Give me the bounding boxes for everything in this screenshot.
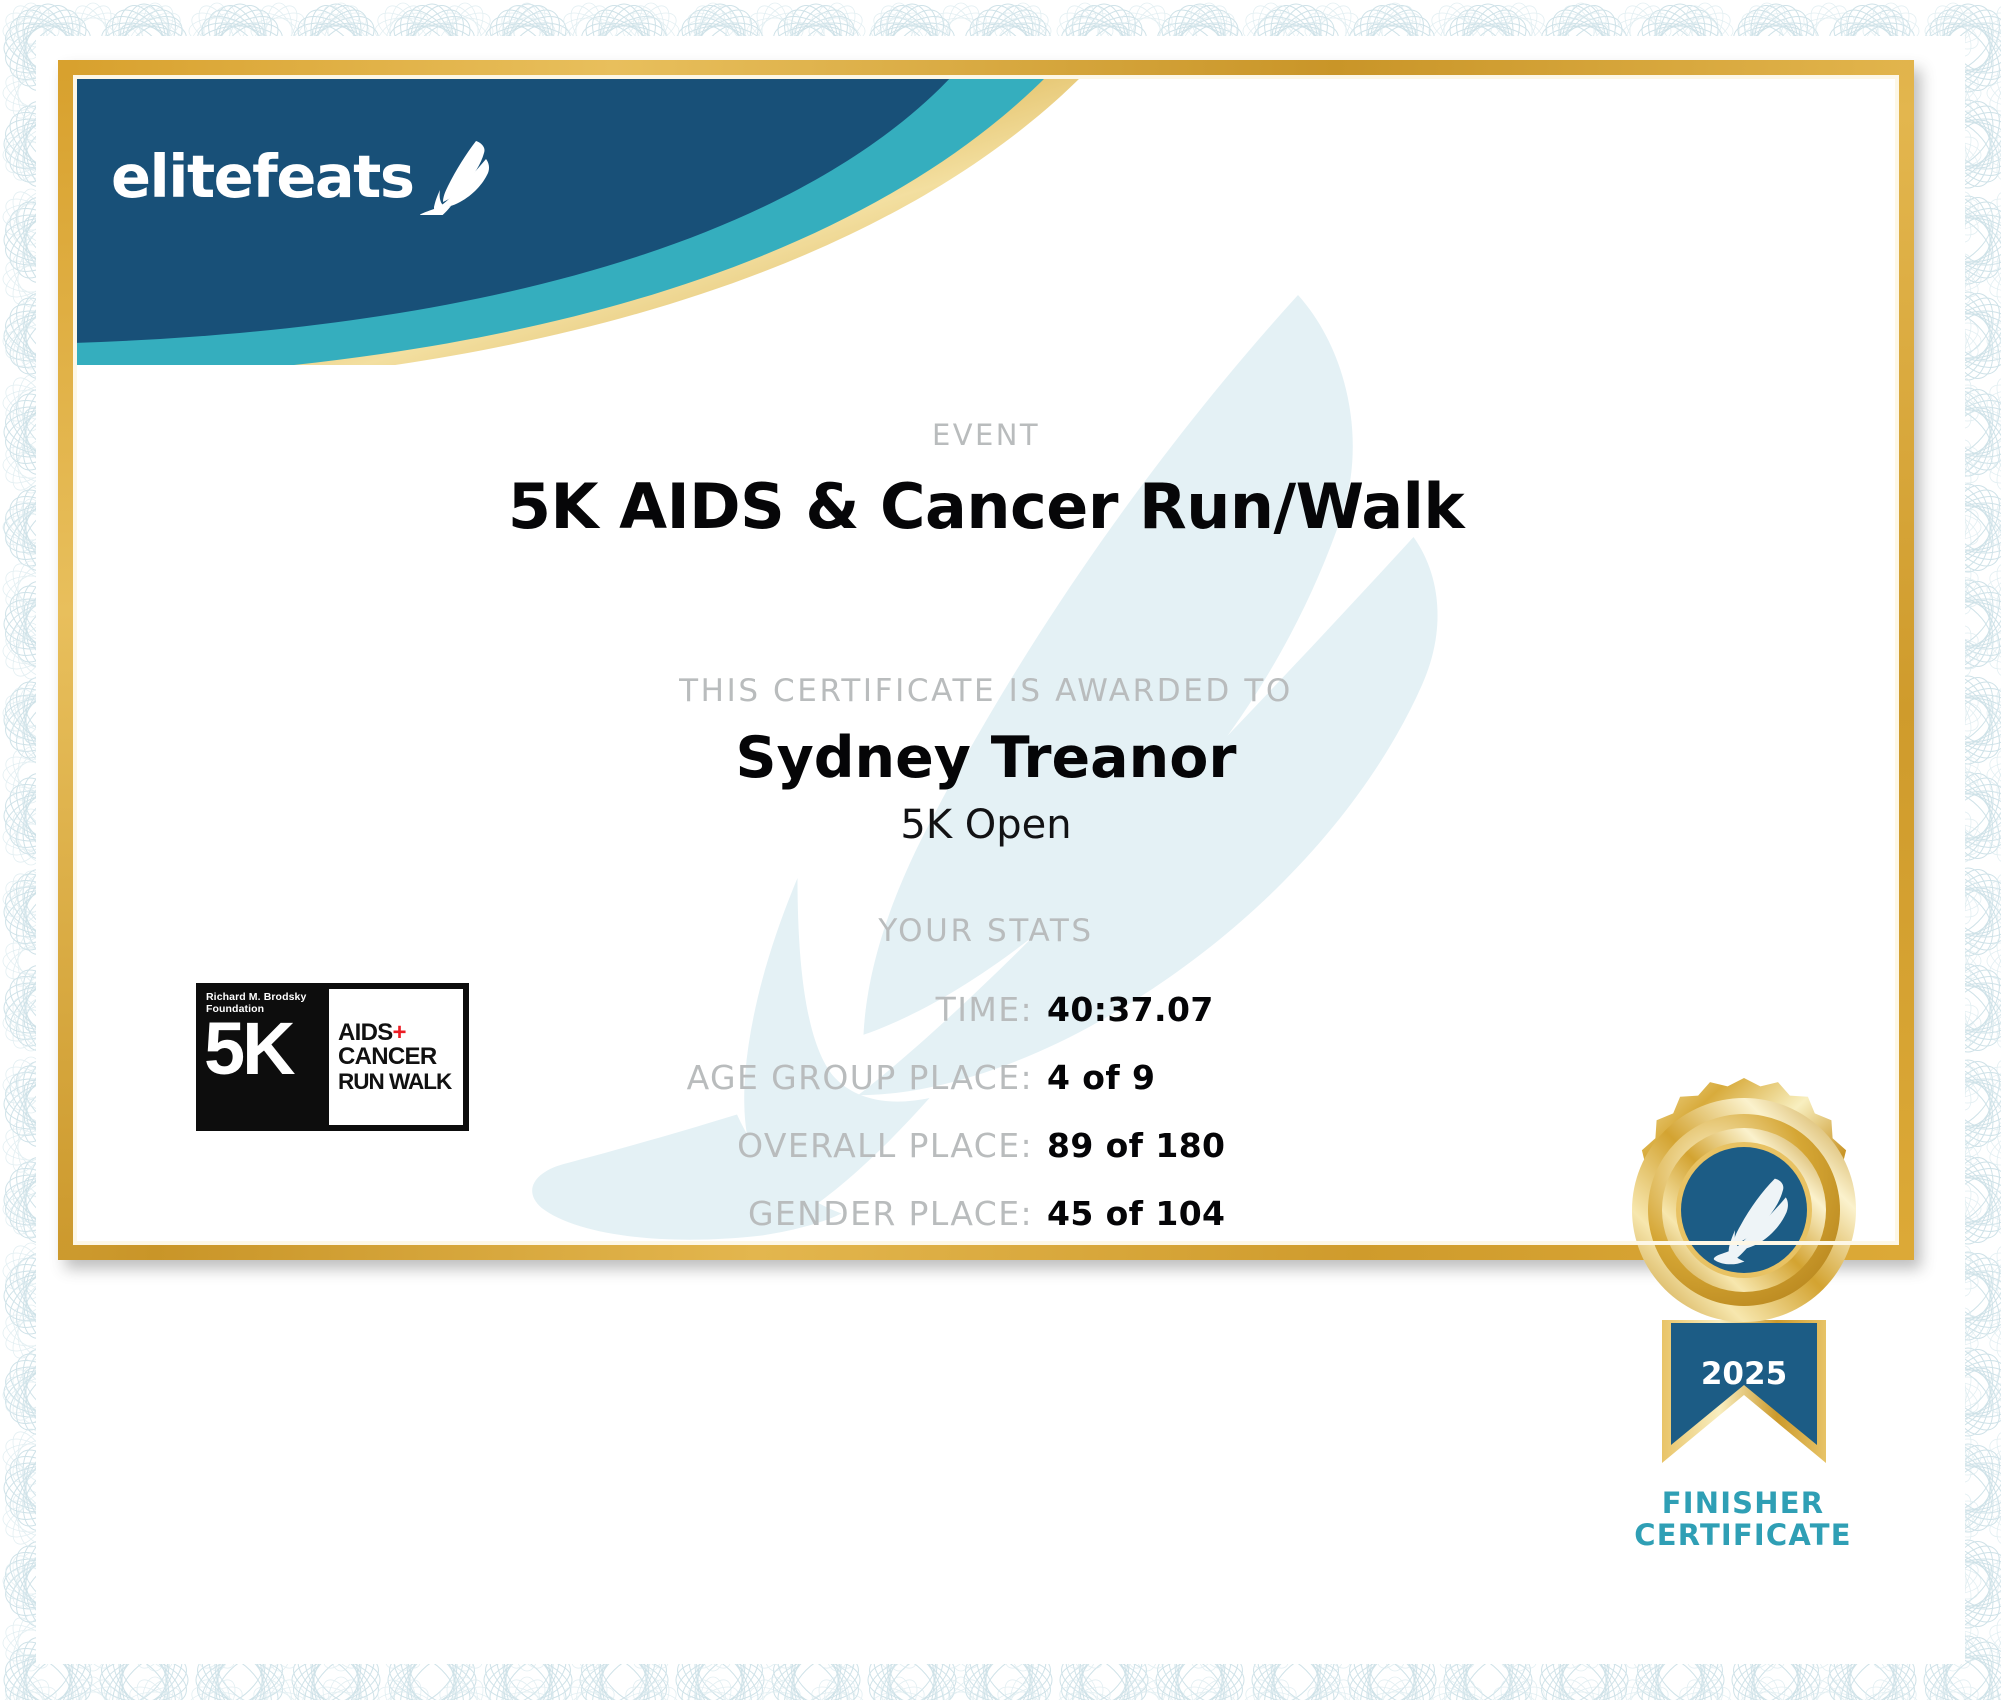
finisher-medal-badge: 2025 [1589,1075,1899,1495]
awarded-to-label: THIS CERTIFICATE IS AWARDED TO [73,673,1899,709]
stat-value-overall-place: 89 of 180 [1047,1126,1303,1165]
stat-value-age-group-place: 4 of 9 [1047,1058,1303,1097]
finisher-caption-line2: CERTIFICATE [1573,1519,1913,1551]
race-logo-line-cancer: CANCER [338,1045,463,1070]
race-sponsor-logo: Richard M. Brodsky Foundation 5K AIDS+ C… [196,983,469,1131]
event-label: EVENT [73,418,1899,452]
brand-wordmark: elitefeats [111,147,414,206]
stat-row-time: TIME: 40:37.07 [373,990,1303,1038]
stat-value-time: 40:37.07 [1047,990,1303,1029]
race-logo-line-aids: AIDS+ [338,1021,463,1046]
stat-row-age-group-place: AGE GROUP PLACE: 4 of 9 [373,1058,1303,1106]
race-logo-aids-text: AIDS [338,1019,393,1046]
stat-row-overall-place: OVERALL PLACE: 89 of 180 [373,1126,1303,1174]
red-plus-icon: + [393,1019,406,1046]
your-stats-heading: YOUR STATS [73,913,1899,949]
stats-table: TIME: 40:37.07 AGE GROUP PLACE: 4 of 9 O… [373,990,1303,1262]
medal-disc [1632,1078,1856,1322]
recipient-division: 5K Open [73,802,1899,848]
stat-label-age-group-place: AGE GROUP PLACE: [373,1058,1047,1097]
brand-logo: elitefeats [111,137,492,215]
winged-foot-icon [420,137,492,215]
race-logo-left-panel: Richard M. Brodsky Foundation 5K [202,989,320,1125]
certificate-page: elitefeats EVENT 5K AIDS & Cancer Run/Wa… [0,0,2001,1700]
finisher-certificate-caption: FINISHER CERTIFICATE [1573,1487,1913,1552]
race-logo-line-run-walk: RUN WALK [338,1070,463,1093]
certificate-content: EVENT 5K AIDS & Cancer Run/Walk THIS CER… [73,75,1899,1245]
certificate-gold-frame: elitefeats EVENT 5K AIDS & Cancer Run/Wa… [58,60,1914,1260]
race-foundation-line1: Richard M. Brodsky [206,991,320,1003]
event-title: 5K AIDS & Cancer Run/Walk [73,470,1899,543]
recipient-name: Sydney Treanor [73,725,1899,791]
race-logo-right-panel: AIDS+ CANCER RUN WALK [329,989,463,1125]
stat-row-gender-place: GENDER PLACE: 45 of 104 [373,1194,1303,1242]
medal-ribbon: 2025 [1662,1320,1826,1463]
stat-label-gender-place: GENDER PLACE: [373,1194,1047,1233]
stat-value-gender-place: 45 of 104 [1047,1194,1303,1233]
finisher-caption-line1: FINISHER [1573,1487,1913,1519]
race-distance-mark: 5K [202,1019,320,1080]
medal-year-text: 2025 [1701,1356,1787,1392]
stat-label-time: TIME: [373,990,1047,1029]
stat-label-overall-place: OVERALL PLACE: [373,1126,1047,1165]
medal-center-field [1681,1147,1807,1273]
